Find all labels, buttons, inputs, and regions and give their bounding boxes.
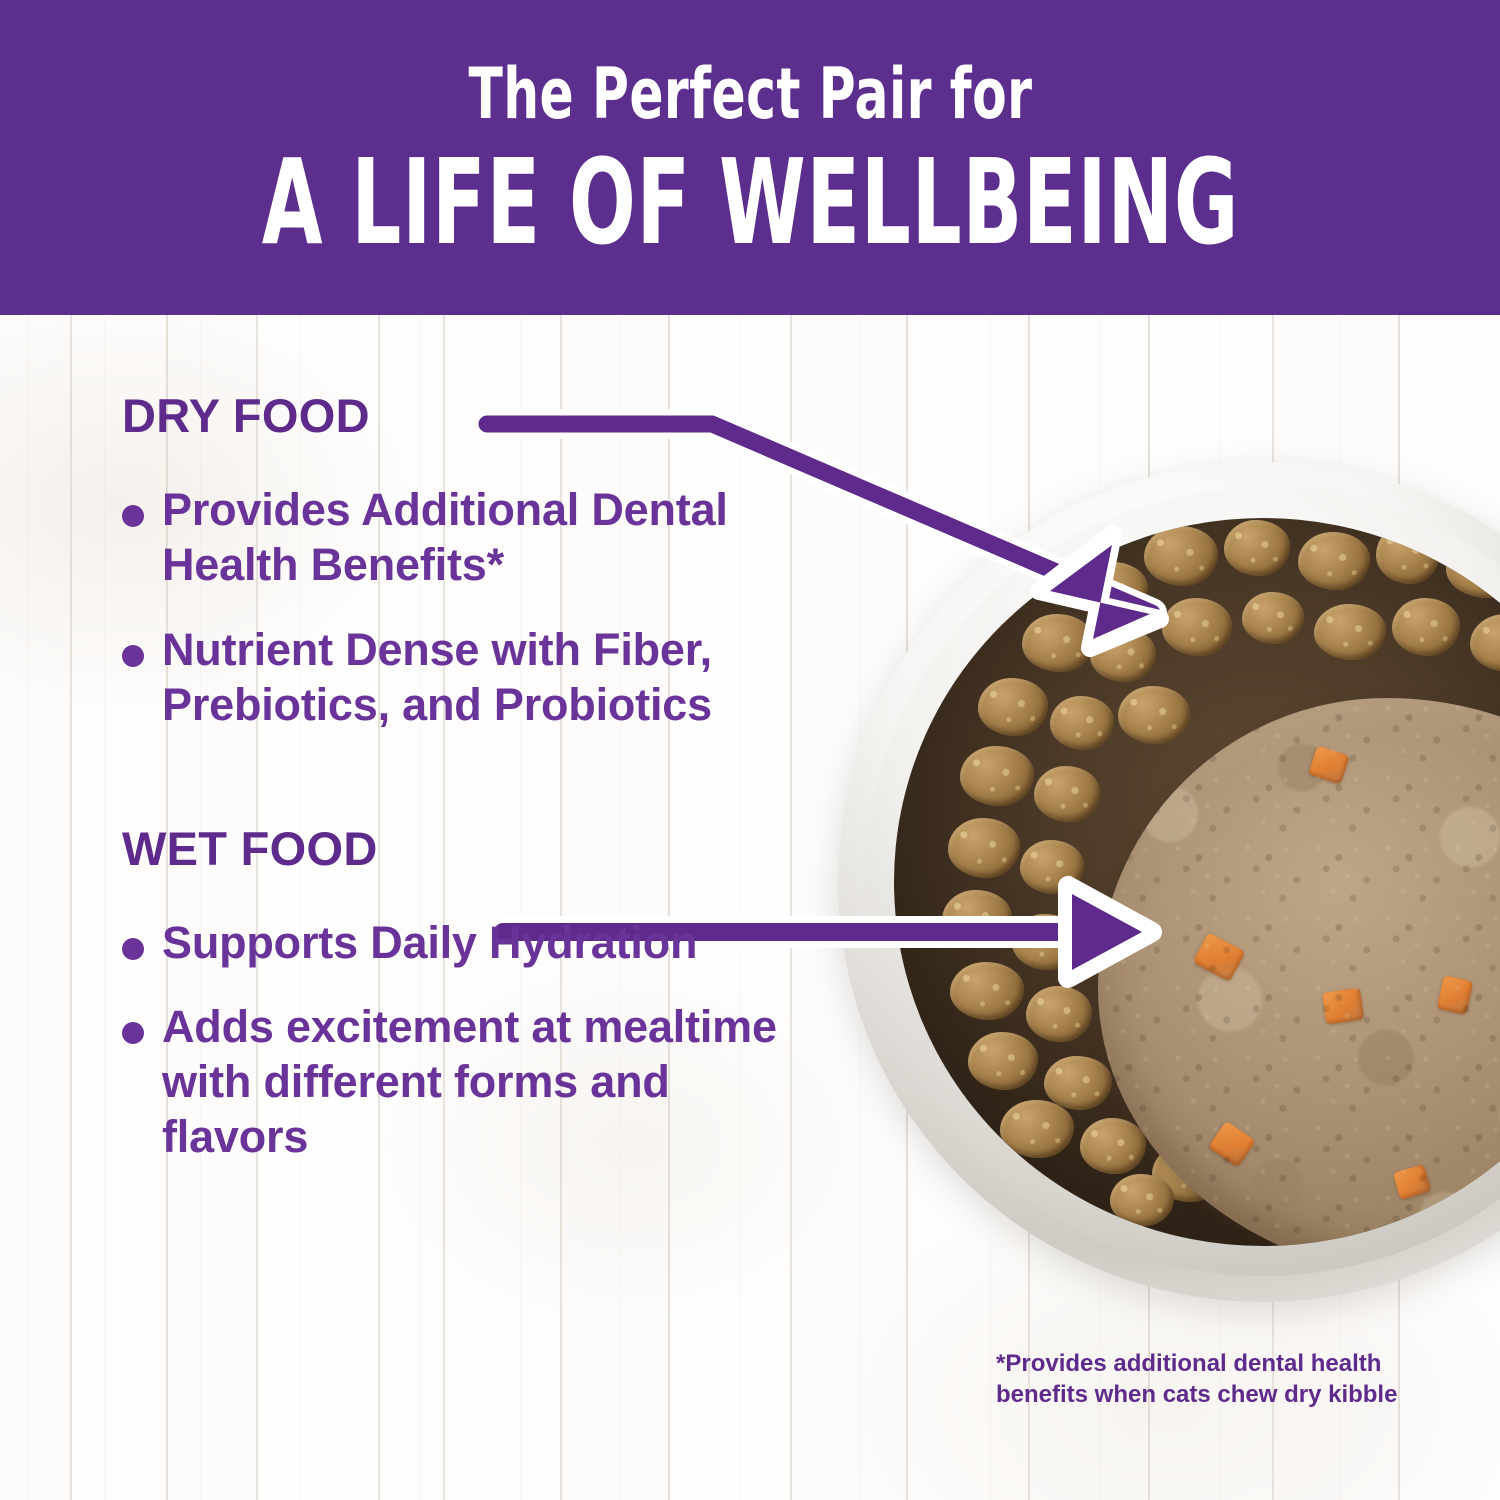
- bullet-dot-icon: [122, 645, 144, 667]
- header-title: A LIFE OF WELLBEING: [261, 143, 1238, 261]
- pet-food-bowl-photo: [838, 462, 1500, 1302]
- dry-food-heading: DRY FOOD: [122, 392, 822, 439]
- dry-food-benefit-2: Nutrient Dense with Fiber, Prebiotics, a…: [162, 623, 822, 733]
- wet-food-benefit-1: Supports Daily Hydration: [162, 916, 822, 971]
- bullet-dot-icon: [122, 505, 144, 527]
- list-item: Adds excitement at mealtime with differe…: [122, 1000, 822, 1165]
- header-subtitle: The Perfect Pair for: [468, 59, 1032, 129]
- dry-food-section: DRY FOOD Provides Additional Dental Heal…: [122, 392, 822, 733]
- list-item: Supports Daily Hydration: [122, 916, 822, 971]
- wet-food-section: WET FOOD Supports Daily Hydration Adds e…: [122, 825, 822, 1166]
- header-banner: The Perfect Pair for A LIFE OF WELLBEING: [0, 0, 1500, 315]
- wet-food-mound: [1098, 698, 1500, 1246]
- infographic-canvas: The Perfect Pair for A LIFE OF WELLBEING…: [0, 0, 1500, 1500]
- wet-food-heading: WET FOOD: [122, 825, 822, 872]
- wet-food-benefit-2: Adds excitement at mealtime with differe…: [162, 1000, 822, 1165]
- bullet-dot-icon: [122, 938, 144, 960]
- footnote-disclaimer: *Provides additional dental health benef…: [996, 1348, 1416, 1410]
- bullet-dot-icon: [122, 1022, 144, 1044]
- benefits-column: DRY FOOD Provides Additional Dental Heal…: [122, 392, 822, 1165]
- list-item: Nutrient Dense with Fiber, Prebiotics, a…: [122, 623, 822, 733]
- list-item: Provides Additional Dental Health Benefi…: [122, 483, 822, 593]
- dry-food-benefit-1: Provides Additional Dental Health Benefi…: [162, 483, 822, 593]
